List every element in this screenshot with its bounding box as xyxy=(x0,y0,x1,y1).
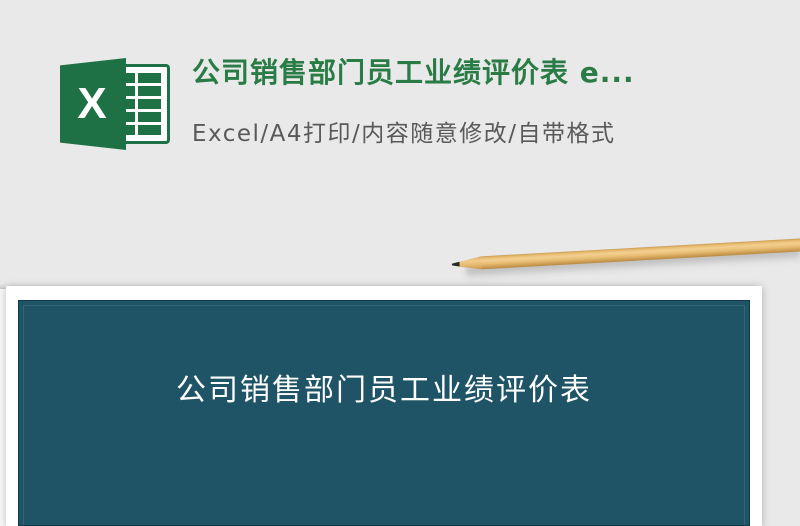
excel-x-letter: X xyxy=(77,82,106,126)
page-title: 公司销售部门员工业绩评价表 e... xyxy=(192,56,635,90)
excel-grid-cell xyxy=(138,73,162,83)
spreadsheet-canvas: 公司销售部门员工业绩评价表 xyxy=(18,300,750,526)
page-sheet-front: 公司销售部门员工业绩评价表 xyxy=(6,286,762,526)
excel-grid-cell xyxy=(138,112,162,122)
excel-x-badge: X xyxy=(60,58,126,150)
excel-grid-cell xyxy=(138,99,162,109)
page-subtitle: Excel/A4打印/内容随意修改/自带格式 xyxy=(192,114,635,148)
excel-grid-cell xyxy=(138,125,162,135)
document-preview: 公司销售部门员工业绩评价表 xyxy=(0,286,768,526)
sheet-inner-border xyxy=(23,305,745,525)
sheet-title: 公司销售部门员工业绩评价表 xyxy=(19,365,749,409)
excel-file-icon: X xyxy=(60,58,170,150)
pencil-image xyxy=(451,227,800,292)
header-banner: X 公司销售部门员工业绩评价表 e... Excel/A4打印/内容随意修改/自… xyxy=(0,0,800,232)
pencil-lead xyxy=(452,262,460,267)
header-content: X 公司销售部门员工业绩评价表 e... Excel/A4打印/内容随意修改/自… xyxy=(60,52,635,150)
page-root: X 公司销售部门员工业绩评价表 e... Excel/A4打印/内容随意修改/自… xyxy=(0,0,800,526)
excel-grid-cell xyxy=(138,86,162,96)
header-text-block: 公司销售部门员工业绩评价表 e... Excel/A4打印/内容随意修改/自带格… xyxy=(192,52,635,148)
